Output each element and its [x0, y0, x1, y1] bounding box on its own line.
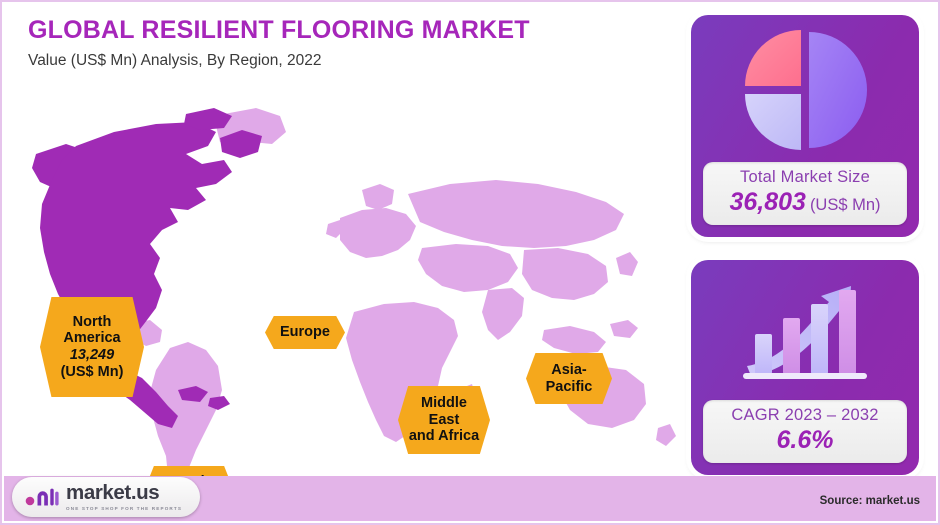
bar-chart-growth-icon [729, 270, 881, 394]
region-name-line2: America [63, 330, 120, 347]
region-name-line3: and Africa [409, 428, 479, 445]
page-subtitle: Value (US$ Mn) Analysis, By Region, 2022 [28, 52, 668, 70]
market-size-label: Total Market Size 36,803(US$ Mn) [703, 162, 907, 225]
pie-chart-figure [691, 15, 919, 165]
brand-logo[interactable]: market.us ONE STOP SHOP FOR THE REPORTS [12, 477, 200, 517]
market-us-logo-icon [25, 485, 59, 509]
cagr-value: 6.6% [777, 426, 834, 455]
card-total-market-size: Total Market Size 36,803(US$ Mn) [691, 15, 919, 237]
region-badge-north-america[interactable]: North America 13,249 (US$ Mn) [40, 297, 144, 397]
market-size-caption: Total Market Size [707, 168, 903, 188]
logo-text-group: market.us ONE STOP SHOP FOR THE REPORTS [66, 483, 182, 511]
region-badge-middle-east-and-africa[interactable]: Middle East and Africa [398, 386, 490, 454]
region-unit: (US$ Mn) [61, 364, 124, 381]
region-name-line1: Middle [421, 395, 467, 412]
world-map: North America 13,249 (US$ Mn) Europe Mid… [10, 98, 682, 488]
pie-chart-icon [739, 24, 871, 156]
logo-tagline: ONE STOP SHOP FOR THE REPORTS [66, 506, 182, 511]
cagr-caption: CAGR 2023 – 2032 [707, 406, 903, 426]
growth-chart-figure [691, 260, 919, 403]
logo-wordmark: market.us [66, 483, 182, 504]
cagr-label: CAGR 2023 – 2032 6.6% [703, 400, 907, 463]
infographic-page: GLOBAL RESILIENT FLOORING MARKET Value (… [0, 0, 940, 525]
region-badge-europe[interactable]: Europe [265, 316, 345, 349]
world-map-svg [10, 98, 682, 488]
market-size-unit: (US$ Mn) [806, 196, 881, 215]
region-name-line1: North [73, 314, 112, 331]
region-name-line2: East [429, 412, 460, 429]
page-title: GLOBAL RESILIENT FLOORING MARKET [28, 16, 668, 45]
market-size-value: 36,803 [729, 188, 805, 217]
region-name-line2: Pacific [546, 379, 593, 396]
region-value: 13,249 [70, 347, 114, 364]
card-cagr: CAGR 2023 – 2032 6.6% [691, 260, 919, 475]
region-name-line1: Asia- [551, 362, 586, 379]
region-badge-asia-pacific[interactable]: Asia- Pacific [526, 353, 612, 404]
region-name-line1: Europe [280, 324, 330, 341]
header: GLOBAL RESILIENT FLOORING MARKET Value (… [28, 16, 668, 70]
source-text: Source: market.us [820, 495, 920, 507]
